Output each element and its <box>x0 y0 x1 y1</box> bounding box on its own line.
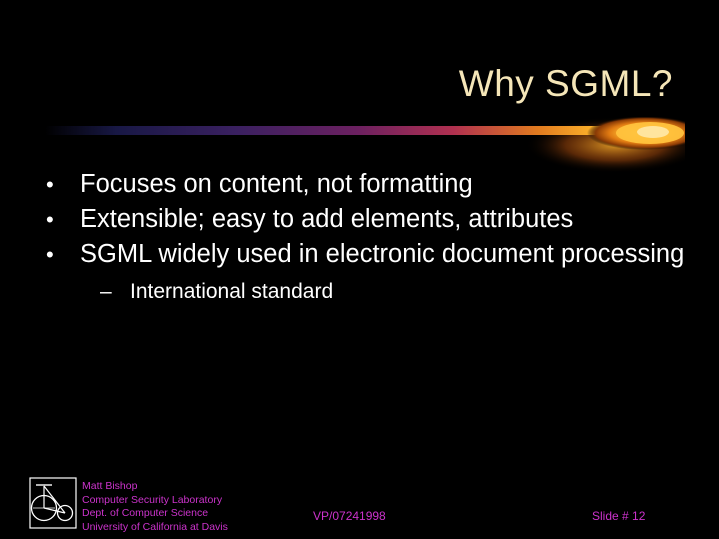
list-item: • Extensible; easy to add elements, attr… <box>38 203 688 236</box>
footer-doc-number: VP/07241998 <box>313 509 386 523</box>
bullet-list: • Focuses on content, not formatting • E… <box>38 168 688 306</box>
list-item: • SGML widely used in electronic documen… <box>38 238 688 271</box>
uc-davis-bicycle-logo-icon <box>29 477 77 529</box>
slide-canvas: Why SGML? <box>0 0 719 539</box>
list-item-text: Extensible; easy to add elements, attrib… <box>80 205 573 233</box>
footer-institution: University of California at Davis <box>82 521 228 535</box>
page-title: Why SGML? <box>0 63 673 105</box>
bullet-marker-icon: • <box>46 238 54 271</box>
bullet-marker-icon: • <box>46 168 54 201</box>
footer-department: Dept. of Computer Science <box>82 507 228 521</box>
footer-slide-number: Slide # 12 <box>592 509 645 523</box>
footer-author: Matt Bishop <box>82 480 228 494</box>
footer-lab: Computer Security Laboratory <box>82 494 228 508</box>
footer-affiliation: Matt Bishop Computer Security Laboratory… <box>82 480 228 534</box>
comet-divider-graphic <box>45 117 685 173</box>
sub-list-item-text: International standard <box>130 280 333 303</box>
sub-list-item: – International standard <box>38 277 688 306</box>
list-item-text: SGML widely used in electronic document … <box>80 240 684 268</box>
bullet-marker-icon: • <box>46 203 54 236</box>
list-item: • Focuses on content, not formatting <box>38 168 688 201</box>
dash-marker-icon: – <box>100 277 112 306</box>
list-item-text: Focuses on content, not formatting <box>80 170 473 198</box>
